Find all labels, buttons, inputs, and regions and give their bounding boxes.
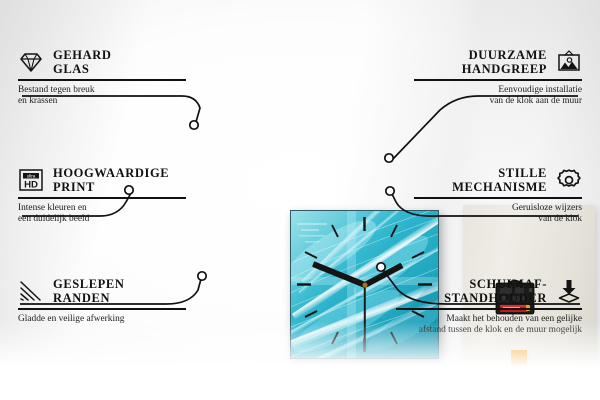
feature-subtitle: Maakt het behouden van een gelijke afsta…: [396, 314, 582, 337]
feature-divider: [18, 79, 186, 81]
feature-hoogwaardige-print: ultra HD HOOGWAARDIGE PRINT Intense kleu…: [18, 166, 186, 225]
picture-frame-icon: [556, 50, 582, 74]
foam-spacer: [511, 350, 527, 366]
feature-divider: [396, 308, 582, 310]
feature-subtitle: Geruisloze wijzers van de klok: [414, 203, 582, 226]
feature-gehard-glas: GEHARD GLAS Bestand tegen breuk en krass…: [18, 48, 186, 107]
ultra-hd-top-label: ultra: [27, 173, 36, 178]
feature-title: HOOGWAARDIGE PRINT: [53, 166, 169, 194]
feature-title: GEHARD GLAS: [53, 48, 111, 76]
feature-title: GESLEPEN RANDEN: [53, 277, 125, 305]
feature-subtitle: Eenvoudige installatie van de klok aan d…: [414, 85, 582, 108]
feature-duurzame-handgreep: DUURZAME HANDGREEP Eenvoudige installati…: [414, 48, 582, 107]
feature-divider: [414, 79, 582, 81]
feature-divider: [18, 308, 186, 310]
feature-subtitle: Gladde en veilige afwerking: [18, 314, 186, 325]
feature-title: DUURZAME HANDGREEP: [462, 48, 547, 76]
feature-schuimafstandhouder: SCHUIMAF- STANDHOUDER Maakt het behouden…: [396, 277, 582, 336]
gear-icon: [556, 168, 582, 192]
ultra-hd-bottom-label: HD: [24, 180, 38, 191]
feature-divider: [18, 197, 186, 199]
ultra-hd-icon: ultra HD: [18, 168, 44, 192]
feature-divider: [414, 197, 582, 199]
feature-stille-mechanisme: STILLE MECHANISME Geruisloze wijzers van…: [414, 166, 582, 225]
feature-geslepen-randen: GESLEPEN RANDEN Gladde en veilige afwerk…: [18, 277, 186, 325]
press-down-icon: [556, 279, 582, 303]
infographic-canvas: GEHARD GLAS Bestand tegen breuk en krass…: [0, 0, 600, 400]
connector-dot-stille-mechanisme: [386, 187, 394, 195]
connector-dot-duurzame-handgreep: [385, 154, 393, 162]
feature-subtitle: Bestand tegen breuk en krassen: [18, 85, 186, 108]
clock-second-hand: [364, 285, 366, 347]
diamond-icon: [18, 50, 44, 74]
clock-center-pin: [362, 282, 367, 287]
feature-title: STILLE MECHANISME: [452, 166, 547, 194]
polished-edge-icon: [18, 279, 44, 303]
feature-title: SCHUIMAF- STANDHOUDER: [444, 277, 547, 305]
feature-subtitle: Intense kleuren en een duidelijk beeld: [18, 203, 186, 226]
